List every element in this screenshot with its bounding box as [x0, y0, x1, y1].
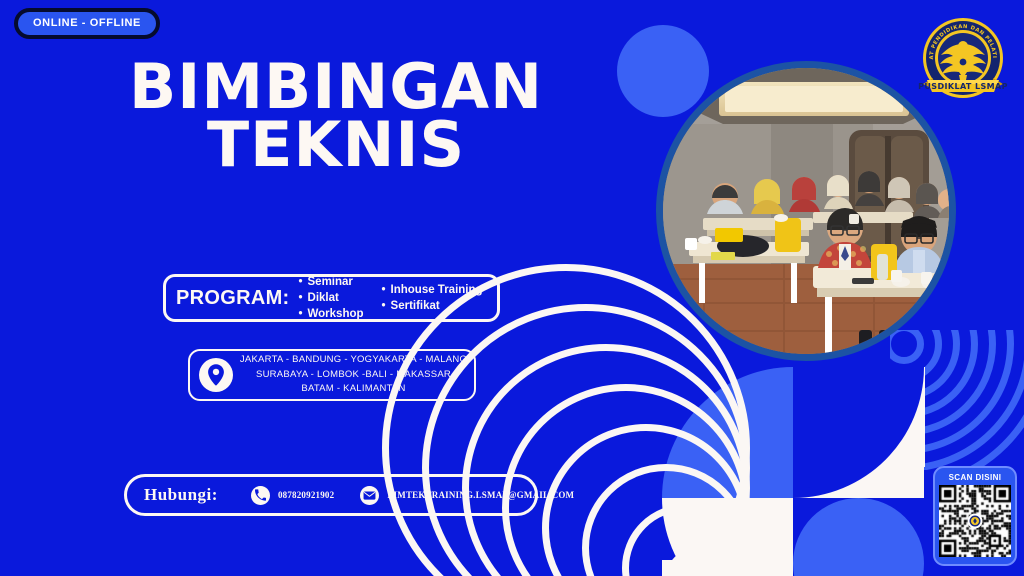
program-item-label: Workshop — [308, 308, 364, 320]
map-pin-icon — [199, 358, 233, 392]
photo-content — [663, 68, 949, 354]
program-label: PROGRAM: — [176, 287, 290, 310]
bullet-icon: • — [299, 306, 308, 322]
location-line: BATAM - KALIMANTAN — [239, 382, 468, 396]
title-line-2: TEKNIS — [96, 116, 576, 174]
poster-canvas: ONLINE - OFFLINE BIMBINGAN TEKNIS PROGRA… — [0, 0, 1024, 576]
decor-arc-rings-white — [516, 362, 736, 576]
email-address: BIMTEKTRAINING.LSMAP@GMAIL.COM — [387, 490, 574, 500]
bullet-icon: • — [299, 290, 308, 306]
pusdiklat-lsmap-emblem: PUSAT PENDIDIKAN DAN PELATIHAN PUSDIKLAT… — [915, 14, 1011, 110]
phone-number: 087820921902 — [278, 490, 334, 500]
bullet-icon: • — [299, 274, 308, 290]
program-item-label: Seminar — [308, 276, 353, 288]
program-item: •Diklat — [299, 290, 364, 306]
title-line-1: BIMBINGAN — [96, 58, 576, 116]
program-item: •Inhouse Training — [382, 282, 483, 298]
page-title: BIMBINGAN TEKNIS — [96, 58, 576, 173]
contact-bar: Hubungi: 087820921902 BIMTEKTRAINING.LSM… — [124, 474, 538, 516]
location-line: JAKARTA - BANDUNG - YOGYAKARTA - MALANG — [239, 353, 468, 367]
program-item-label: Sertifikat — [391, 300, 440, 312]
qr-code-icon[interactable] — [939, 485, 1011, 557]
program-column-2: •Inhouse Training •Sertifikat — [382, 282, 483, 315]
location-box: JAKARTA - BANDUNG - YOGYAKARTA - MALANG … — [188, 349, 476, 401]
program-item: •Sertifikat — [382, 298, 483, 314]
emblem-ribbon-text: PUSDIKLAT LSMAP — [918, 82, 1008, 91]
program-column-1: •Seminar •Diklat •Workshop — [299, 274, 364, 323]
contact-email[interactable]: BIMTEKTRAINING.LSMAP@GMAIL.COM — [360, 486, 574, 505]
qr-title: SCAN DISINI — [949, 473, 1002, 482]
location-lines: JAKARTA - BANDUNG - YOGYAKARTA - MALANG … — [233, 353, 474, 396]
status-badge-online-offline: ONLINE - OFFLINE — [14, 8, 160, 39]
program-item: •Seminar — [299, 274, 364, 290]
program-item: •Workshop — [299, 306, 364, 322]
envelope-icon — [360, 486, 379, 505]
qr-panel[interactable]: SCAN DISINI — [933, 466, 1017, 566]
program-box: PROGRAM: •Seminar •Diklat •Workshop •Inh… — [163, 274, 500, 322]
program-item-label: Diklat — [308, 292, 339, 304]
qr-center-logo — [968, 514, 983, 529]
program-item-label: Inhouse Training — [391, 284, 483, 296]
contact-phone[interactable]: 087820921902 — [251, 486, 334, 505]
decor-quadrant-bottom-right — [793, 498, 924, 576]
location-line: SURABAYA - LOMBOK -BALI - MAKASSAR — [239, 368, 468, 382]
seminar-room-photo — [656, 61, 956, 361]
contact-label: Hubungi: — [144, 485, 218, 505]
phone-icon — [251, 486, 270, 505]
bullet-icon: • — [382, 282, 391, 298]
bullet-icon: • — [382, 298, 391, 314]
